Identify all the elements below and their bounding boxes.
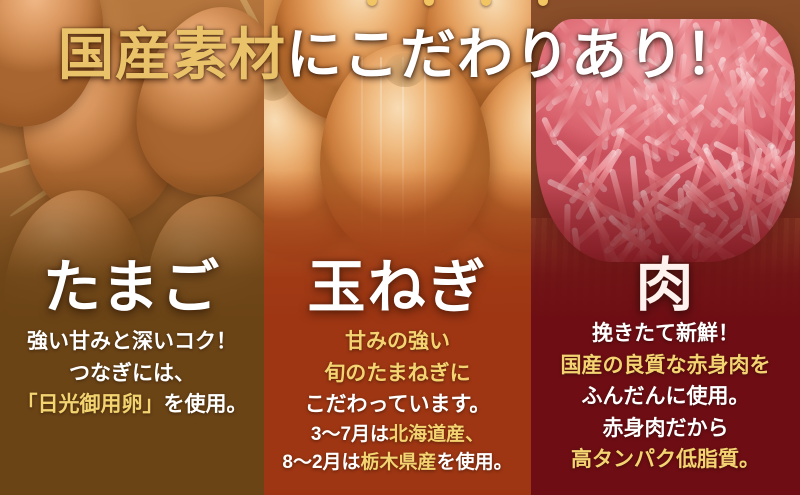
description-line: ふんだんに使用。: [531, 381, 800, 413]
description-text: つなぎには、: [69, 362, 195, 385]
description-accent-text: 栃木県産: [361, 452, 437, 473]
ingredient-column-onion: 玉ねぎ 甘みの強い旬のたまねぎにこだわっています。3〜7月は北海道産、8〜2月は…: [264, 0, 531, 495]
meat-strand: [557, 42, 566, 79]
column-title-meat: 肉: [531, 238, 800, 322]
description-accent-text: 高タンパク低脂質。: [571, 448, 760, 471]
ingredient-column-meat: 肉 挽きたて新鮮！国産の良質な赤身肉をふんだんに使用。赤身肉だから高タンパク低脂…: [531, 0, 800, 495]
description-line: 強い甘みと深いコク！: [0, 326, 264, 358]
description-text: 3〜7月は: [311, 424, 389, 445]
column-title-onion: 玉ねぎ: [264, 240, 531, 324]
description-text: を使用。: [164, 393, 248, 416]
description-line: つなぎには、: [0, 358, 264, 390]
description-line: 甘みの強い: [264, 326, 531, 358]
description-line: 高タンパク低脂質。: [531, 444, 800, 476]
description-text: こだわっています。: [305, 393, 491, 416]
description-line: 挽きたて新鮮！: [531, 318, 800, 350]
description-line: 国産の良質な赤身肉を: [531, 350, 800, 382]
description-line: 赤身肉だから: [531, 413, 800, 445]
description-line: 3〜7月は北海道産、: [264, 421, 531, 450]
ingredient-column-egg: たまご 強い甘みと深いコク！つなぎには、「日光御用卵」を使用。: [0, 0, 264, 495]
column-title-egg: たまご: [0, 240, 264, 324]
description-accent-text: 北海道産、: [389, 424, 484, 445]
column-description-meat: 挽きたて新鮮！国産の良質な赤身肉をふんだんに使用。赤身肉だから高タンパク低脂質。: [531, 318, 800, 476]
description-line: 旬のたまねぎに: [264, 358, 531, 390]
description-accent-text: 国産の良質な赤身肉を: [561, 354, 771, 377]
description-accent-text: 甘みの強い: [345, 330, 450, 353]
description-text: 赤身肉だから: [603, 417, 729, 440]
description-text: を使用。: [437, 452, 513, 473]
description-accent-text: 「日光御用卵」: [17, 393, 164, 416]
description-accent-text: 旬のたまねぎに: [324, 362, 470, 385]
description-line: 「日光御用卵」を使用。: [0, 389, 264, 421]
column-description-egg: 強い甘みと深いコク！つなぎには、「日光御用卵」を使用。: [0, 326, 264, 421]
column-description-onion: 甘みの強い旬のたまねぎにこだわっています。3〜7月は北海道産、8〜2月は栃木県産…: [264, 326, 531, 478]
description-text: 強い甘みと深いコク！: [27, 330, 237, 353]
description-text: ふんだんに使用。: [582, 385, 750, 408]
description-text: 8〜2月は: [282, 452, 360, 473]
description-text: 挽きたて新鮮！: [592, 322, 739, 345]
description-line: こだわっています。: [264, 389, 531, 421]
product-ingredients-banner: たまご 強い甘みと深いコク！つなぎには、「日光御用卵」を使用。 玉ねぎ 甘みの強…: [0, 0, 800, 495]
meat-strand: [602, 43, 609, 103]
description-line: 8〜2月は栃木県産を使用。: [264, 449, 531, 478]
